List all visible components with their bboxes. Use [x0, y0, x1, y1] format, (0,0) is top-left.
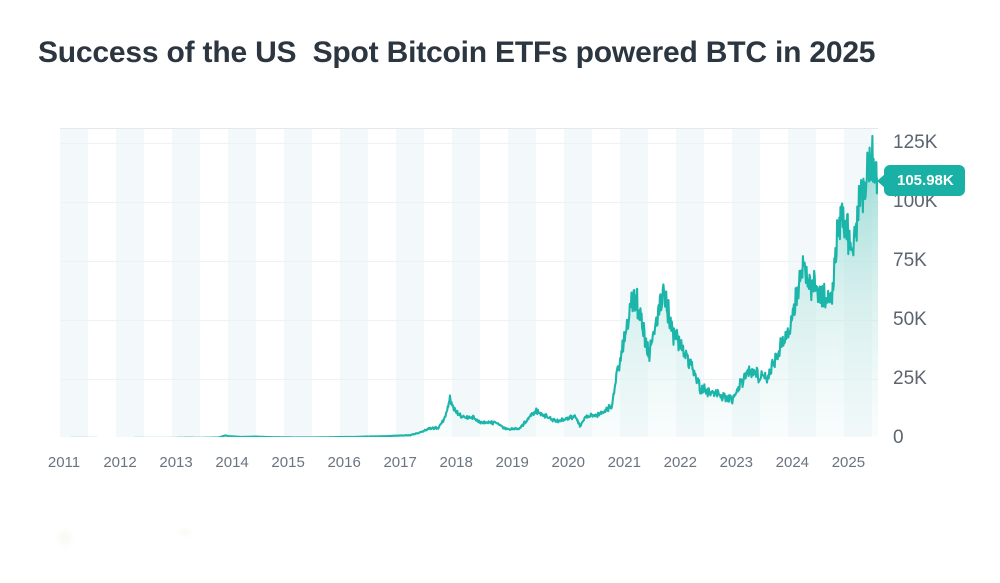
area-fill — [60, 136, 878, 437]
y-axis-tick-label: 125K — [893, 133, 937, 152]
status-badge: 105.98K — [884, 165, 965, 196]
x-axis-tick-label: 2022 — [664, 455, 697, 470]
x-axis-tick-label: 2018 — [440, 455, 473, 470]
x-axis-tick-label: 2023 — [720, 455, 753, 470]
y-axis-tick-label: 75K — [893, 251, 927, 270]
x-axis-tick-label: 2020 — [552, 455, 585, 470]
x-axis-tick-label: 2019 — [496, 455, 529, 470]
badge-label: 105.98K — [897, 172, 954, 189]
y-axis-tick-label: 50K — [893, 310, 927, 329]
plot-area — [60, 128, 878, 437]
btc-price-series — [60, 129, 878, 437]
x-axis-tick-label: 2015 — [271, 455, 304, 470]
x-axis-tick-label: 2012 — [103, 455, 136, 470]
x-axis: 2011201220132014201520162017201820192020… — [60, 455, 878, 479]
x-axis-tick-label: 2013 — [159, 455, 192, 470]
y-axis-tick-label: 25K — [893, 369, 927, 388]
x-axis-tick-label: 2011 — [48, 455, 80, 470]
artifact-smudge-right — [180, 528, 190, 536]
chart-page: Success of the US Spot Bitcoin ETFs powe… — [0, 0, 1000, 583]
x-axis-tick-label: 2025 — [832, 455, 865, 470]
page-title: Success of the US Spot Bitcoin ETFs powe… — [38, 36, 875, 70]
x-axis-tick-label: 2014 — [215, 455, 248, 470]
y-axis-tick-label: 0 — [893, 428, 904, 447]
x-axis-tick-label: 2024 — [776, 455, 809, 470]
artifact-smudge-left — [58, 530, 72, 546]
x-axis-tick-label: 2021 — [608, 455, 641, 470]
x-axis-tick-label: 2016 — [327, 455, 360, 470]
x-axis-tick-label: 2017 — [383, 455, 416, 470]
plot-wrapper — [60, 128, 878, 437]
